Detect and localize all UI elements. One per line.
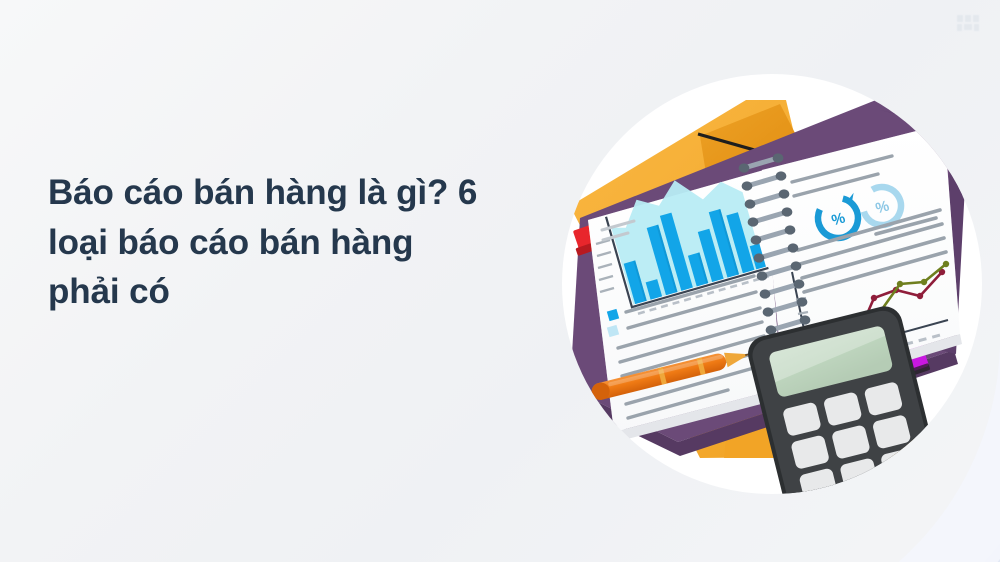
watermark-row-top — [957, 15, 979, 22]
watermark-row-bottom — [957, 24, 979, 31]
page-title-line-3: phải có — [48, 267, 548, 317]
calculator-key-accent — [888, 480, 928, 506]
page-title: Báo cáo bán hàng là gì? 6 loại báo cáo b… — [48, 168, 548, 317]
watermark — [948, 8, 988, 38]
illustration-artwork: % % — [548, 58, 996, 506]
page-title-line-2: loại báo cáo bán hàng — [48, 218, 548, 268]
illustration: % % — [548, 58, 996, 506]
page-title-line-1: Báo cáo bán hàng là gì? 6 — [48, 168, 548, 218]
page-root: Báo cáo bán hàng là gì? 6 loại báo cáo b… — [0, 0, 1000, 562]
